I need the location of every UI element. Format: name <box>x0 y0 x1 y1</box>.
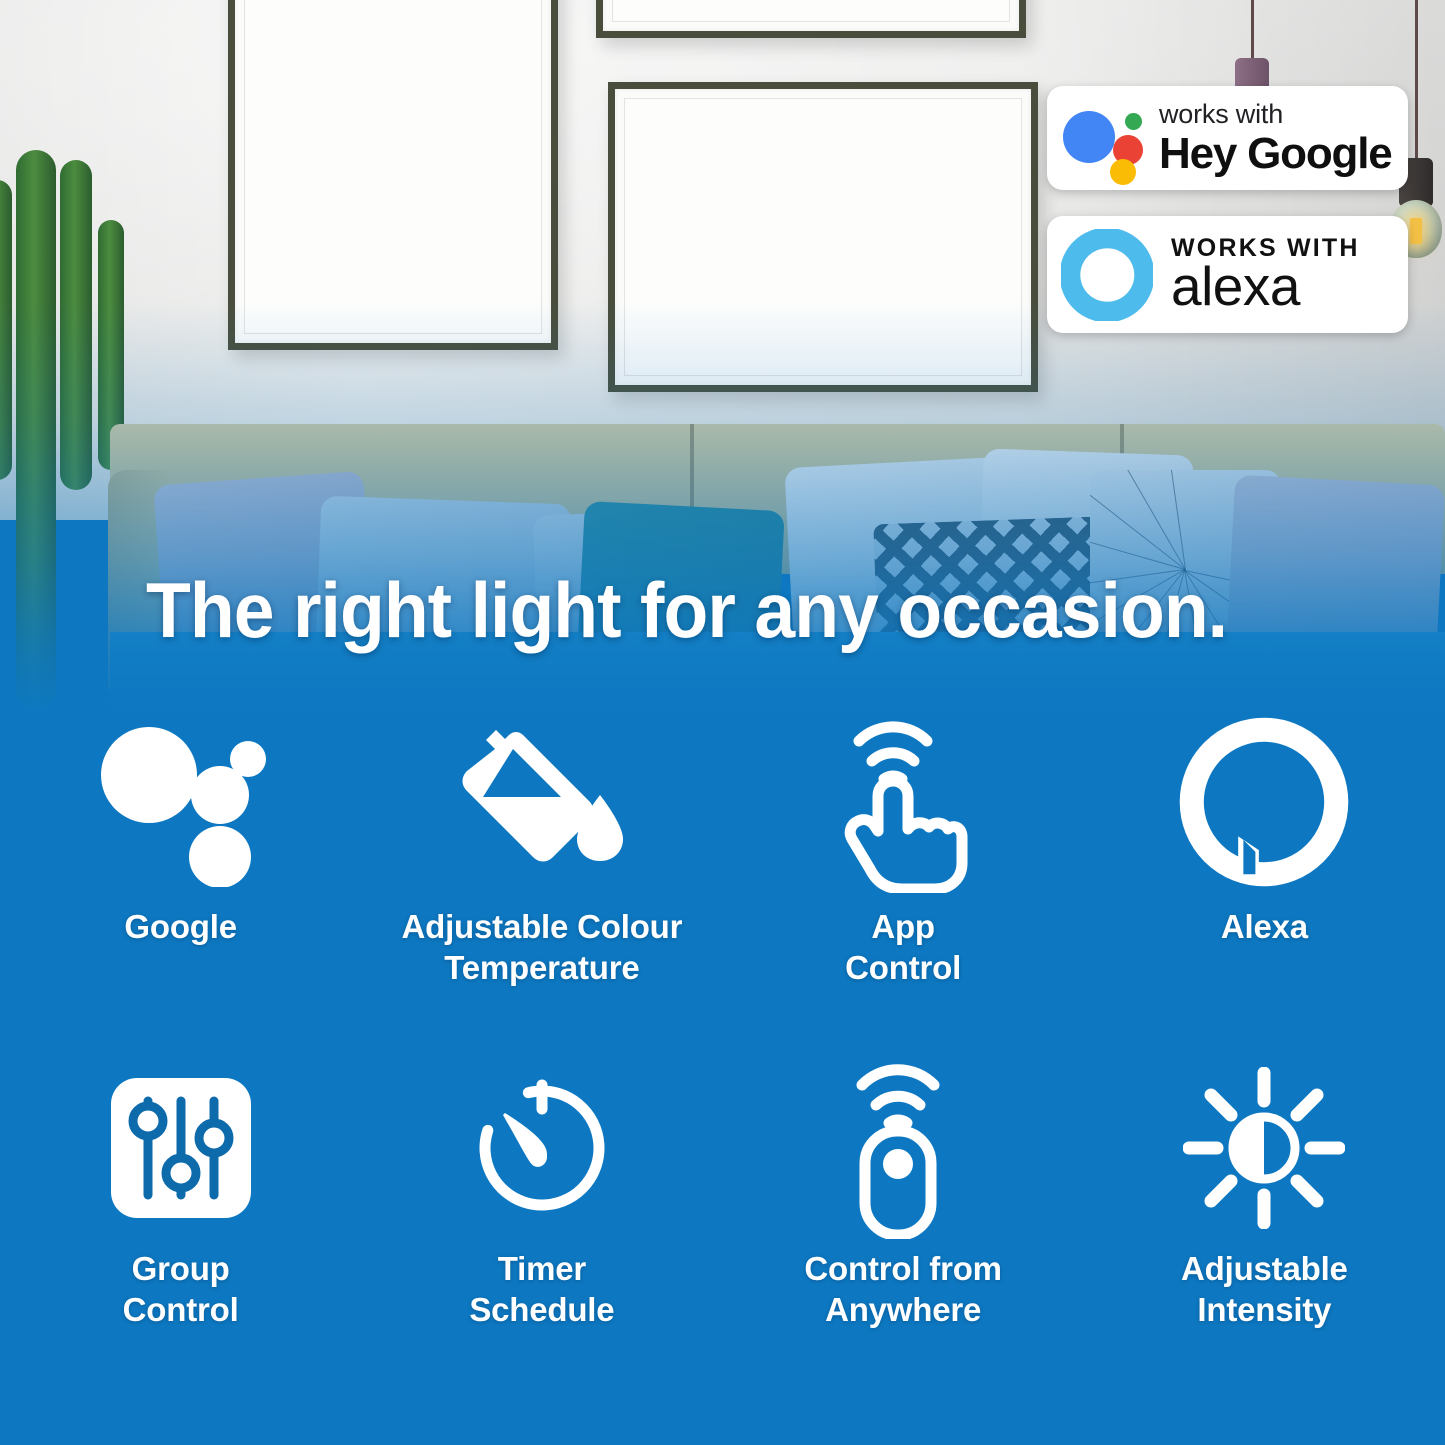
google-assistant-dots-icon <box>1061 105 1143 171</box>
remote-control-wifi-icon <box>838 1062 968 1234</box>
feature-label: Control from Anywhere <box>804 1248 1001 1331</box>
sliders-panel-icon <box>106 1062 256 1234</box>
badge-line-2: alexa <box>1171 259 1360 314</box>
feature-label: Adjustable Intensity <box>1181 1248 1348 1331</box>
brightness-sun-icon <box>1183 1062 1345 1234</box>
feature-alexa: Alexa <box>1084 700 1445 1050</box>
feature-control-from-anywhere: Control from Anywhere <box>723 1050 1084 1400</box>
feature-label: App Control <box>845 906 961 989</box>
badge-line-2: Hey Google <box>1159 132 1392 176</box>
feature-adjustable-intensity: Adjustable Intensity <box>1084 1050 1445 1400</box>
page-title: The right light for any occasion. <box>146 565 1302 656</box>
alexa-ring-icon <box>1178 712 1350 892</box>
feature-app-control: App Control <box>723 700 1084 1050</box>
works-with-alexa-badge[interactable]: WORKS WITH alexa <box>1047 216 1408 333</box>
stopwatch-timer-icon <box>463 1062 621 1234</box>
feature-google: Google <box>0 700 361 1050</box>
feature-adjustable-colour-temperature: Adjustable Colour Temperature <box>361 700 722 1050</box>
feature-group-control: Group Control <box>0 1050 361 1400</box>
badge-text-block: WORKS WITH alexa <box>1171 236 1360 314</box>
badge-line-1: works with <box>1159 101 1392 128</box>
product-feature-banner: works with Hey Google WORKS WITH alexa T… <box>0 0 1445 1445</box>
pointing-hand-wifi-icon <box>828 712 978 892</box>
works-with-hey-google-badge[interactable]: works with Hey Google <box>1047 86 1408 190</box>
paint-bucket-droplet-icon <box>449 712 634 892</box>
feature-label: Alexa <box>1221 906 1308 947</box>
alexa-ring-icon <box>1061 229 1153 321</box>
feature-grid: Google Adjustable Colour Temperature <box>0 700 1445 1400</box>
badge-text-block: works with Hey Google <box>1159 101 1392 176</box>
feature-label: Group Control <box>123 1248 239 1331</box>
feature-label: Adjustable Colour Temperature <box>401 906 682 989</box>
feature-label: Timer Schedule <box>469 1248 614 1331</box>
feature-label: Google <box>124 906 236 947</box>
google-assistant-dots-icon <box>91 712 271 892</box>
feature-timer-schedule: Timer Schedule <box>361 1050 722 1400</box>
